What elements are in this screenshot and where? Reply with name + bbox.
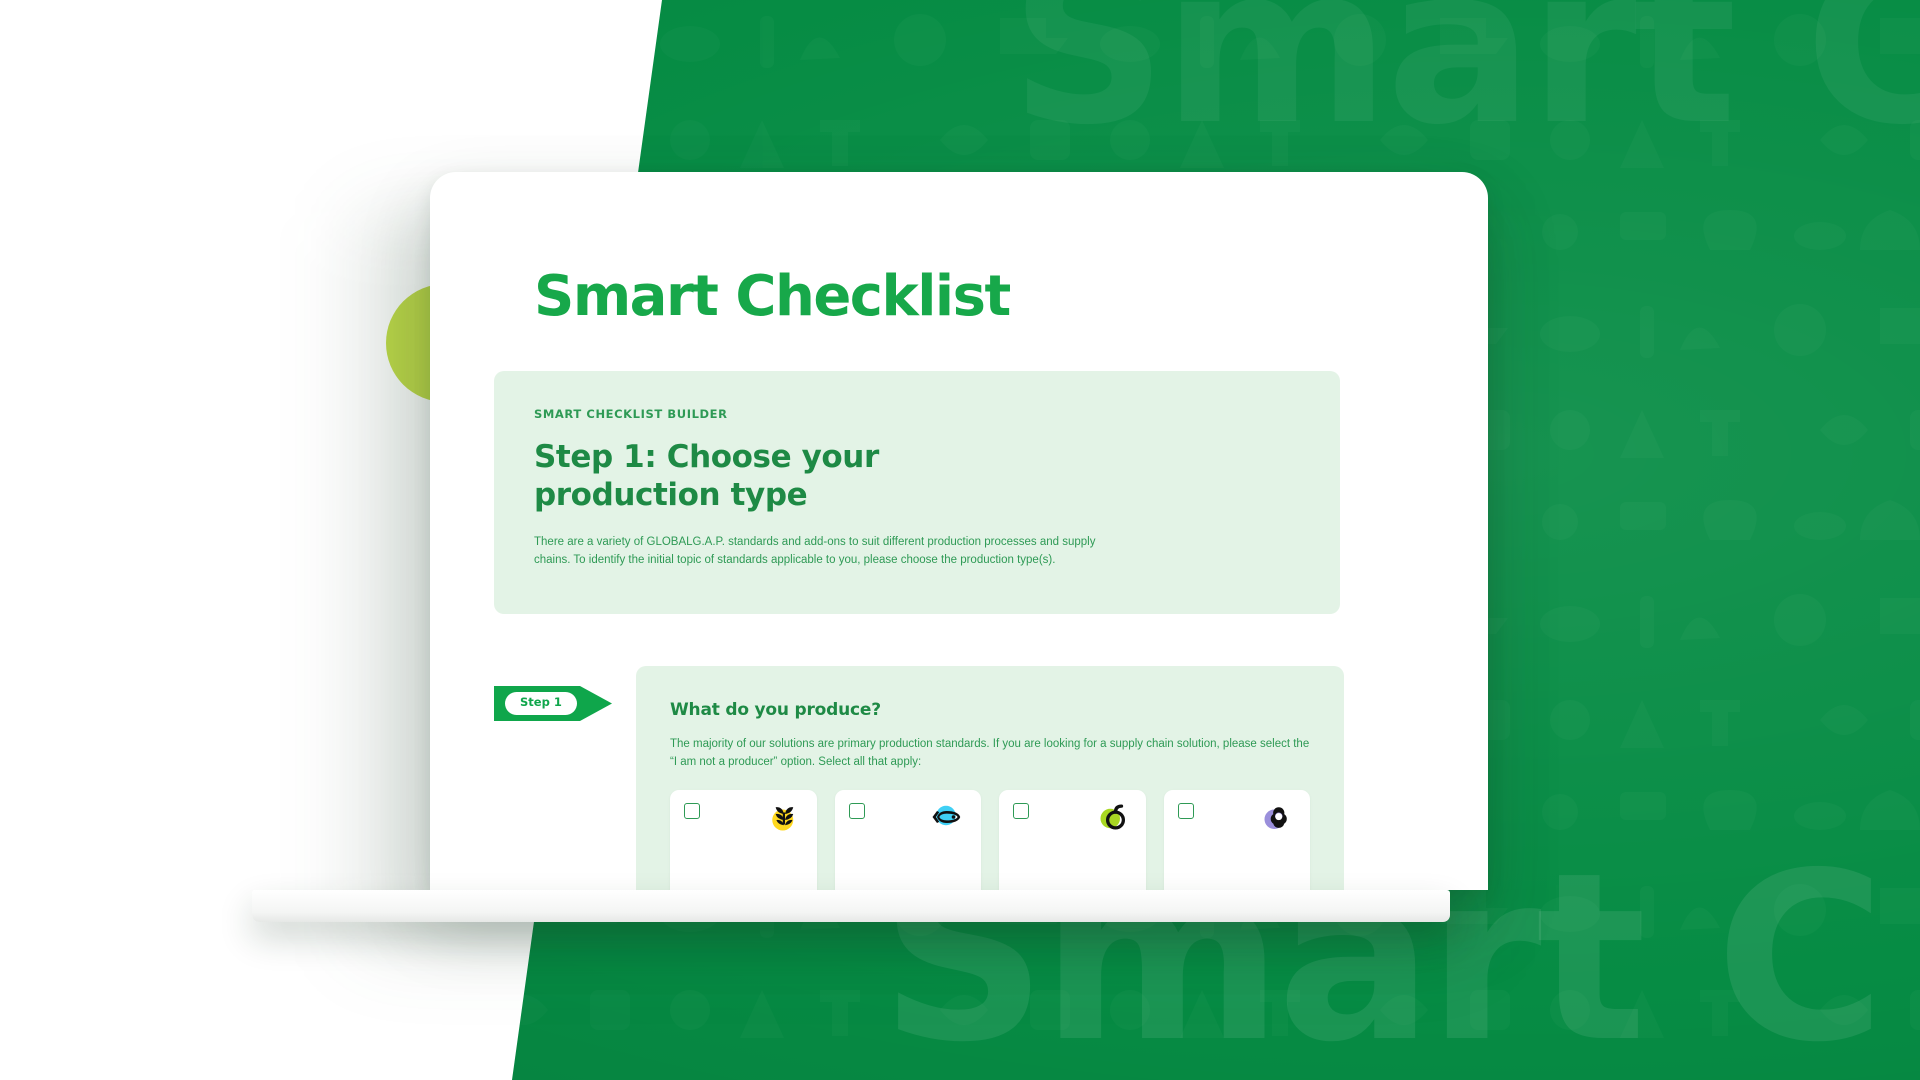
checkbox-crops[interactable] [684,803,700,819]
option-card-aquaculture[interactable] [835,790,982,890]
wheat-icon [767,799,803,835]
checklist-page: Smart Checklist SMART CHECKLIST BUILDER … [448,190,1470,890]
step-badge-label: Step 1 [505,692,577,715]
intro-card: SMART CHECKLIST BUILDER Step 1: Choose y… [494,371,1340,614]
laptop-screen: Smart Checklist SMART CHECKLIST BUILDER … [448,190,1470,890]
laptop-mockup: Smart Checklist SMART CHECKLIST BUILDER … [430,172,1488,890]
flower-icon [1260,799,1296,835]
fish-icon [931,799,967,835]
step-badge: Step 1 [494,686,612,721]
question-card: What do you produce? The majority of our… [636,666,1344,890]
step-row: Step 1 What do you produce? The majority… [494,666,1428,890]
laptop-base [252,890,1450,922]
intro-heading: Step 1: Choose your production type [534,439,1054,515]
question-body: The majority of our solutions are primar… [670,736,1310,772]
checkbox-fruit[interactable] [1013,803,1029,819]
intro-eyebrow: SMART CHECKLIST BUILDER [534,407,1300,421]
fruit-icon [1096,799,1132,835]
option-card-crops[interactable] [670,790,817,890]
checkbox-plant-propagation[interactable] [1178,803,1194,819]
laptop-lid: Smart Checklist SMART CHECKLIST BUILDER … [430,172,1488,890]
intro-body: There are a variety of GLOBALG.A.P. stan… [534,534,1124,570]
option-card-fruit[interactable] [999,790,1146,890]
checkbox-aquaculture[interactable] [849,803,865,819]
option-card-plant-propagation[interactable] [1164,790,1311,890]
page-title: Smart Checklist [534,268,1428,327]
question-title: What do you produce? [670,700,1310,720]
screenshot-stage: Smart C Smart Checklist Smart Checklist … [0,0,1920,1080]
production-type-options [670,790,1310,890]
